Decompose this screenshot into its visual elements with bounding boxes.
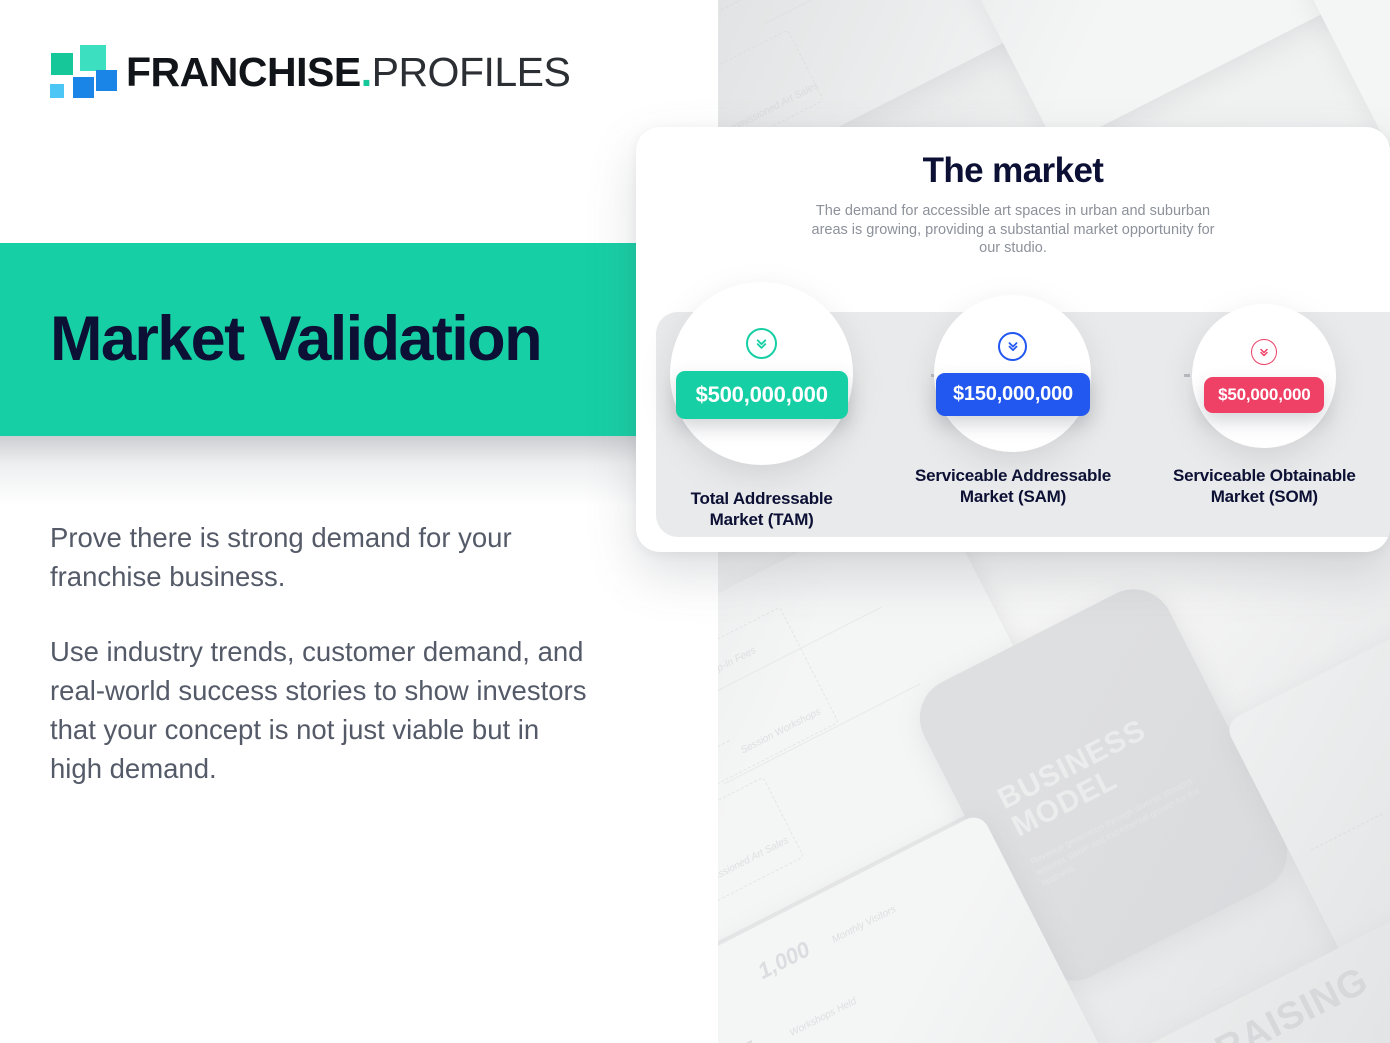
body-paragraph-1: Prove there is strong demand for your fr… bbox=[50, 518, 595, 596]
slide-canvas: Drop-In Fees $ Session Workshops Commiss… bbox=[0, 0, 1390, 1043]
stat-value-pill: $500,000,000 bbox=[676, 371, 848, 419]
brand-name-light: PROFILES bbox=[372, 49, 571, 95]
stat-caption: Serviceable Addressable Market (SAM) bbox=[905, 466, 1120, 507]
stat-som[interactable]: $50,000,000 Serviceable Obtainable Marke… bbox=[1139, 282, 1390, 552]
stat-sam[interactable]: $150,000,000 Serviceable Addressable Mar… bbox=[887, 282, 1138, 552]
stat-bubble: $150,000,000 bbox=[934, 295, 1091, 452]
hero-title-band: Market Validation bbox=[0, 243, 636, 436]
bg-metric-label: Monthly Visitors bbox=[830, 904, 898, 946]
bg-slide-title: FUNDRAISING bbox=[1112, 961, 1375, 1043]
body-paragraph-2: Use industry trends, customer demand, an… bbox=[50, 632, 595, 788]
stat-bubble: $50,000,000 bbox=[1192, 304, 1336, 448]
brand-name-bold: FRANCHISE bbox=[126, 49, 361, 95]
hero-body-copy: Prove there is strong demand for your fr… bbox=[50, 518, 595, 788]
stat-caption: Total Addressable Market (TAM) bbox=[662, 489, 862, 530]
stat-value-pill: $150,000,000 bbox=[936, 373, 1090, 416]
stat-caption: Serviceable Obtainable Market (SOM) bbox=[1162, 466, 1367, 507]
market-card-title: The market bbox=[636, 151, 1390, 191]
market-card-subtitle: The demand for accessible art spaces in … bbox=[803, 202, 1223, 258]
double-chevron-down-icon bbox=[998, 332, 1027, 361]
stat-bubble: $500,000,000 bbox=[670, 282, 853, 465]
stat-value-pill: $50,000,000 bbox=[1204, 377, 1324, 413]
double-chevron-down-icon bbox=[746, 328, 777, 359]
left-content-panel: FRANCHISE.PROFILES Market Validation Pro… bbox=[0, 0, 718, 1043]
bg-metric-number: 1,000 bbox=[754, 936, 815, 984]
brand-wordmark: FRANCHISE.PROFILES bbox=[126, 52, 570, 93]
brand-name-dot: . bbox=[361, 49, 372, 95]
bg-slide-title: COMP bbox=[1385, 616, 1390, 695]
bg-metric-number: 75 bbox=[730, 1037, 760, 1043]
brand-logo[interactable]: FRANCHISE.PROFILES bbox=[48, 44, 570, 100]
stat-tam[interactable]: $500,000,000 Total Addressable Market (T… bbox=[636, 282, 887, 552]
market-stats-row: $500,000,000 Total Addressable Market (T… bbox=[636, 282, 1390, 552]
bg-slide-item: Session Workshops bbox=[771, 0, 855, 3]
page-title: Market Validation bbox=[0, 308, 541, 371]
double-chevron-down-icon bbox=[1251, 339, 1277, 365]
band-shadow bbox=[0, 436, 636, 506]
logo-squares-icon bbox=[48, 44, 110, 100]
bg-metric-label: Workshops Held bbox=[788, 996, 858, 1039]
market-card: The market The demand for accessible art… bbox=[636, 127, 1390, 552]
